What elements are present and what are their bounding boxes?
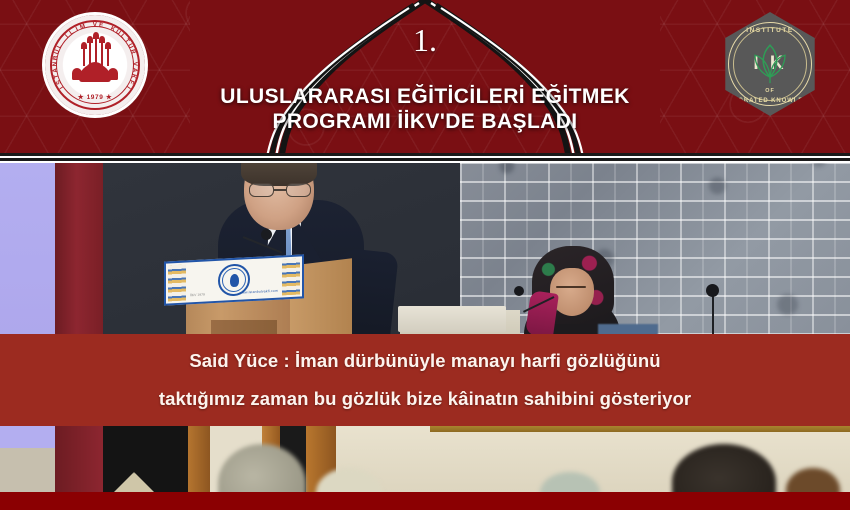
podium-microphone-head (261, 229, 272, 240)
news-poster: İİKV 1979 www.istanbulvakfi.com (0, 0, 850, 510)
lectern-front-panel: İİKV 1979 www.istanbulvakfi.com (164, 254, 304, 305)
istanbul-ilim-ve-kultur-vakfi-logo[interactable]: İSTANBUL İLİM VE KÜLTÜR VAKFI ★ 1979 ★ (45, 15, 145, 115)
caption-band: Said Yüce : İman dürbünüyle manayı harfi… (0, 334, 850, 426)
table-microphone-head (706, 284, 719, 297)
header-divider-rule (0, 153, 850, 163)
table-microphone-stem (712, 290, 714, 340)
audience-screen-lower (0, 448, 55, 492)
speaker-eyeglasses (249, 183, 311, 197)
panelist-brow (556, 286, 586, 288)
panelist-microphone-head (514, 286, 524, 296)
leaf-icon (747, 43, 793, 83)
caption-line-1: Said Yüce : İman dürbünüyle manayı harfi… (189, 342, 660, 380)
audience-dark-panel (103, 426, 188, 492)
logo-year: ★ 1979 ★ (45, 93, 145, 101)
wall-rail (430, 426, 850, 432)
lectern-url: www.istanbulvakfi.com (240, 289, 278, 295)
lectern-mark: İİKV 1979 (190, 293, 205, 298)
door-frame-1 (188, 426, 210, 492)
iik-middle-text: OF (718, 88, 822, 94)
audience-photo (0, 426, 850, 492)
bottom-accent-strip (0, 492, 850, 510)
lectern-ornament-right (282, 259, 300, 296)
lectern-ornament-left (168, 265, 186, 302)
caption-line-2: taktığımız zaman bu gözlük bize kâinatın… (159, 380, 691, 418)
audience-screen-upper (0, 426, 55, 448)
audience-curtain (55, 426, 103, 492)
iik-monogram: I K (742, 42, 798, 86)
laptop (398, 306, 506, 332)
mosque-tulip-icon (74, 42, 116, 88)
